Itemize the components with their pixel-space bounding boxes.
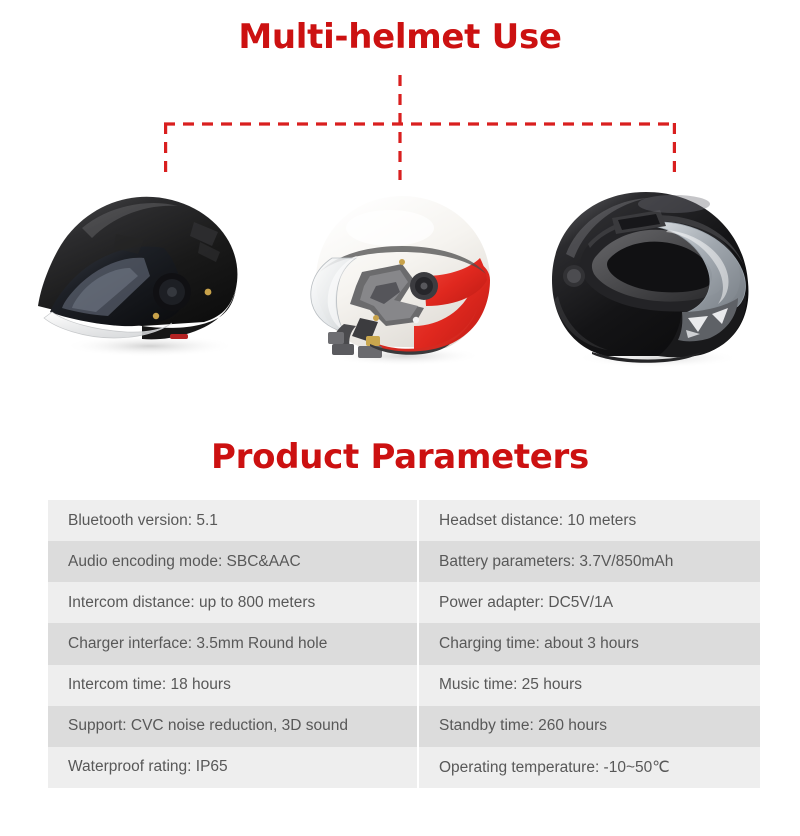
black-full-face-modular-helmet-icon xyxy=(532,176,784,376)
parameters-column-right: Headset distance: 10 meters Battery para… xyxy=(419,500,760,788)
helmet-image-black-full-face-modular xyxy=(532,176,784,376)
white-red-open-face-helmet-icon xyxy=(274,176,526,376)
helmet-gallery xyxy=(0,176,800,376)
parameter-row: Music time: 25 hours xyxy=(419,665,760,706)
parameter-row: Audio encoding mode: SBC&AAC xyxy=(48,541,417,582)
black-open-face-helmet-icon xyxy=(22,176,274,376)
parameter-row: Waterproof rating: IP65 xyxy=(48,747,417,788)
parameter-row: Charging time: about 3 hours xyxy=(419,623,760,664)
parameter-row: Bluetooth version: 5.1 xyxy=(48,500,417,541)
parameter-row: Operating temperature: -10~50℃ xyxy=(419,747,760,788)
parameter-row: Support: CVC noise reduction, 3D sound xyxy=(48,706,417,747)
parameters-column-left: Bluetooth version: 5.1 Audio encoding mo… xyxy=(48,500,417,788)
dashed-bracket-icon xyxy=(0,60,800,195)
parameter-row: Standby time: 260 hours xyxy=(419,706,760,747)
parameter-row: Headset distance: 10 meters xyxy=(419,500,760,541)
dashed-bracket-connector xyxy=(0,60,800,195)
parameter-row: Intercom distance: up to 800 meters xyxy=(48,582,417,623)
helmet-image-white-red-open-face xyxy=(274,176,526,376)
parameter-row: Battery parameters: 3.7V/850mAh xyxy=(419,541,760,582)
parameter-row: Power adapter: DC5V/1A xyxy=(419,582,760,623)
product-parameters-table: Bluetooth version: 5.1 Audio encoding mo… xyxy=(48,500,760,788)
page-title-product-parameters: Product Parameters xyxy=(0,436,800,478)
parameter-row: Intercom time: 18 hours xyxy=(48,665,417,706)
helmet-image-black-open-face xyxy=(22,176,274,376)
parameter-row: Charger interface: 3.5mm Round hole xyxy=(48,623,417,664)
page-title-multi-helmet: Multi-helmet Use xyxy=(0,16,800,58)
